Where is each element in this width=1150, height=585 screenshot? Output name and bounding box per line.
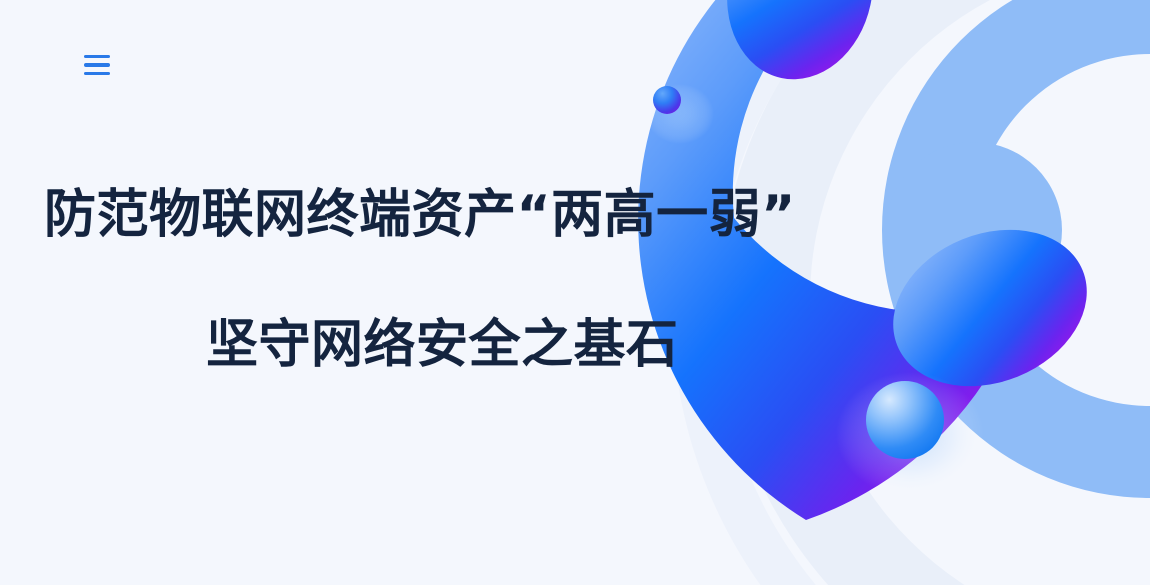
light-blue-arc [882, 0, 1150, 498]
title-line-primary: 防范物联网终端资产“两高一弱” [0, 186, 880, 246]
hamburger-bar-middle [84, 63, 110, 67]
small-blue-purple-sphere [646, 84, 714, 144]
page-title: 防范物联网终端资产“两高一弱” 坚守网络安全之基石 [0, 186, 880, 376]
hamburger-bar-top [84, 55, 110, 59]
hamburger-menu-icon[interactable] [84, 50, 114, 80]
large-blue-sphere [836, 372, 984, 496]
presentation-slide: 防范物联网终端资产“两高一弱” 坚守网络安全之基石 [0, 0, 1150, 585]
hamburger-bar-bottom [84, 72, 110, 76]
title-line-secondary: 坚守网络安全之基石 [0, 316, 880, 376]
